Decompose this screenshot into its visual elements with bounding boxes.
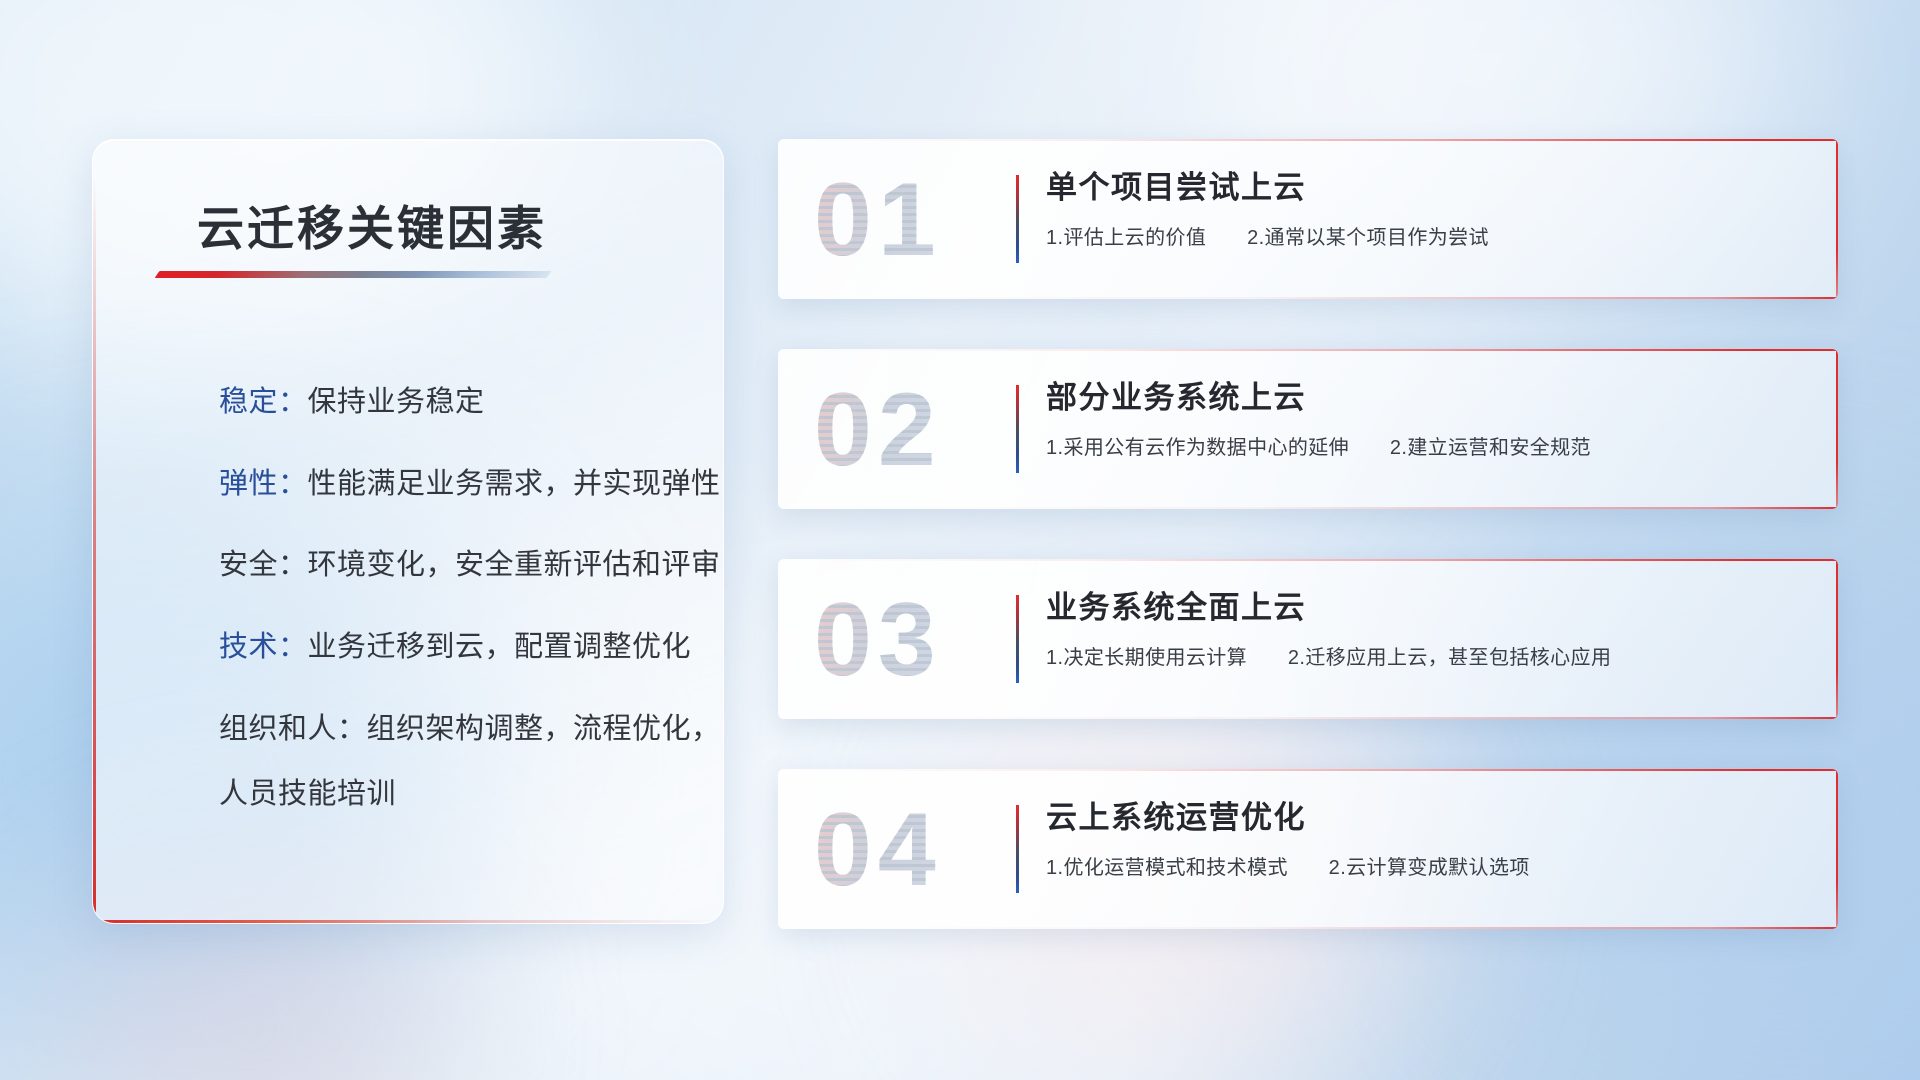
title-underline-accent (155, 271, 552, 278)
card-title: 云上系统运营优化 (1046, 799, 1814, 836)
slide-stage: 云迁移关键因素 稳定：保持业务稳定 弹性：性能满足业务需求，并实现弹性 安全：环… (0, 0, 1920, 1080)
card-divider-bar (1016, 595, 1019, 683)
card-description: 1.决定长期使用云计算 2.迁移应用上云，甚至包括核心应用 (1046, 645, 1814, 672)
stage-card[interactable]: 04 云上系统运营优化 1.优化运营模式和技术模式 2.云计算变成默认选项 (778, 769, 1838, 929)
card-accent-right (1836, 559, 1838, 719)
card-description: 1.优化运营模式和技术模式 2.云计算变成默认选项 (1046, 855, 1814, 882)
card-accent-right (1836, 349, 1838, 509)
list-item-text: 保持业务稳定 (308, 386, 485, 418)
stage-card[interactable]: 02 部分业务系统上云 1.采用公有云作为数据中心的延伸 2.建立运营和安全规范 (778, 349, 1838, 509)
card-title: 业务系统全面上云 (1046, 589, 1814, 626)
list-item: 弹性：性能满足业务需求，并实现弹性 (219, 466, 689, 504)
card-accent-top (778, 559, 1838, 561)
list-item: 稳定：保持业务稳定 (219, 384, 689, 422)
card-accent-top (778, 769, 1838, 771)
card-body: 部分业务系统上云 1.采用公有云作为数据中心的延伸 2.建立运营和安全规范 (1046, 379, 1814, 462)
list-item: 安全：环境变化，安全重新评估和评审 (219, 547, 689, 585)
card-number-watermark: 04 (814, 787, 996, 913)
stage-card[interactable]: 03 业务系统全面上云 1.决定长期使用云计算 2.迁移应用上云，甚至包括核心应… (778, 559, 1838, 719)
card-accent-top (778, 349, 1838, 351)
card-body: 业务系统全面上云 1.决定长期使用云计算 2.迁移应用上云，甚至包括核心应用 (1046, 589, 1814, 672)
card-accent-right (1836, 139, 1838, 299)
card-divider-bar (1016, 175, 1019, 263)
card-number-watermark: 02 (814, 367, 996, 493)
list-item-label: 组织和人： (219, 713, 367, 745)
card-accent-top (778, 139, 1838, 141)
list-item-text: 环境变化，安全重新评估和评审 (308, 549, 721, 581)
key-factors-list: 稳定：保持业务稳定 弹性：性能满足业务需求，并实现弹性 安全：环境变化，安全重新… (219, 384, 689, 814)
card-body: 单个项目尝试上云 1.评估上云的价值 2.通常以某个项目作为尝试 (1046, 169, 1814, 252)
stage-cards-list: 01 单个项目尝试上云 1.评估上云的价值 2.通常以某个项目作为尝试 02 部… (778, 139, 1838, 929)
list-item-text: 业务迁移到云，配置调整优化 (308, 631, 692, 663)
card-accent-bottom (778, 717, 1838, 719)
list-item-label: 安全： (219, 549, 308, 581)
card-divider-bar (1016, 805, 1019, 893)
card-accent-bottom (778, 507, 1838, 509)
list-item-label: 稳定： (219, 386, 308, 418)
stage-card[interactable]: 01 单个项目尝试上云 1.评估上云的价值 2.通常以某个项目作为尝试 (778, 139, 1838, 299)
list-item: 组织和人：组织架构调整，流程优化， 人员技能培训 (219, 711, 689, 814)
panel-title: 云迁移关键因素 (197, 190, 547, 259)
list-item: 技术：业务迁移到云，配置调整优化 (219, 629, 689, 667)
list-item-label: 弹性： (219, 468, 308, 500)
card-title: 单个项目尝试上云 (1046, 169, 1814, 206)
card-divider-bar (1016, 385, 1019, 473)
card-accent-bottom (778, 927, 1838, 929)
card-number-watermark: 01 (814, 157, 996, 283)
key-factors-panel: 云迁移关键因素 稳定：保持业务稳定 弹性：性能满足业务需求，并实现弹性 安全：环… (92, 139, 724, 924)
card-description: 1.采用公有云作为数据中心的延伸 2.建立运营和安全规范 (1046, 435, 1814, 462)
list-item-label: 技术： (219, 631, 308, 663)
card-number-watermark: 03 (814, 577, 996, 703)
card-body: 云上系统运营优化 1.优化运营模式和技术模式 2.云计算变成默认选项 (1046, 799, 1814, 882)
card-accent-right (1836, 769, 1838, 929)
card-title: 部分业务系统上云 (1046, 379, 1814, 416)
card-accent-bottom (778, 297, 1838, 299)
list-item-text: 组织架构调整，流程优化， (367, 713, 721, 745)
list-item-text-line2: 人员技能培训 (219, 776, 689, 814)
list-item-text: 性能满足业务需求，并实现弹性 (308, 468, 721, 500)
card-description: 1.评估上云的价值 2.通常以某个项目作为尝试 (1046, 225, 1814, 252)
